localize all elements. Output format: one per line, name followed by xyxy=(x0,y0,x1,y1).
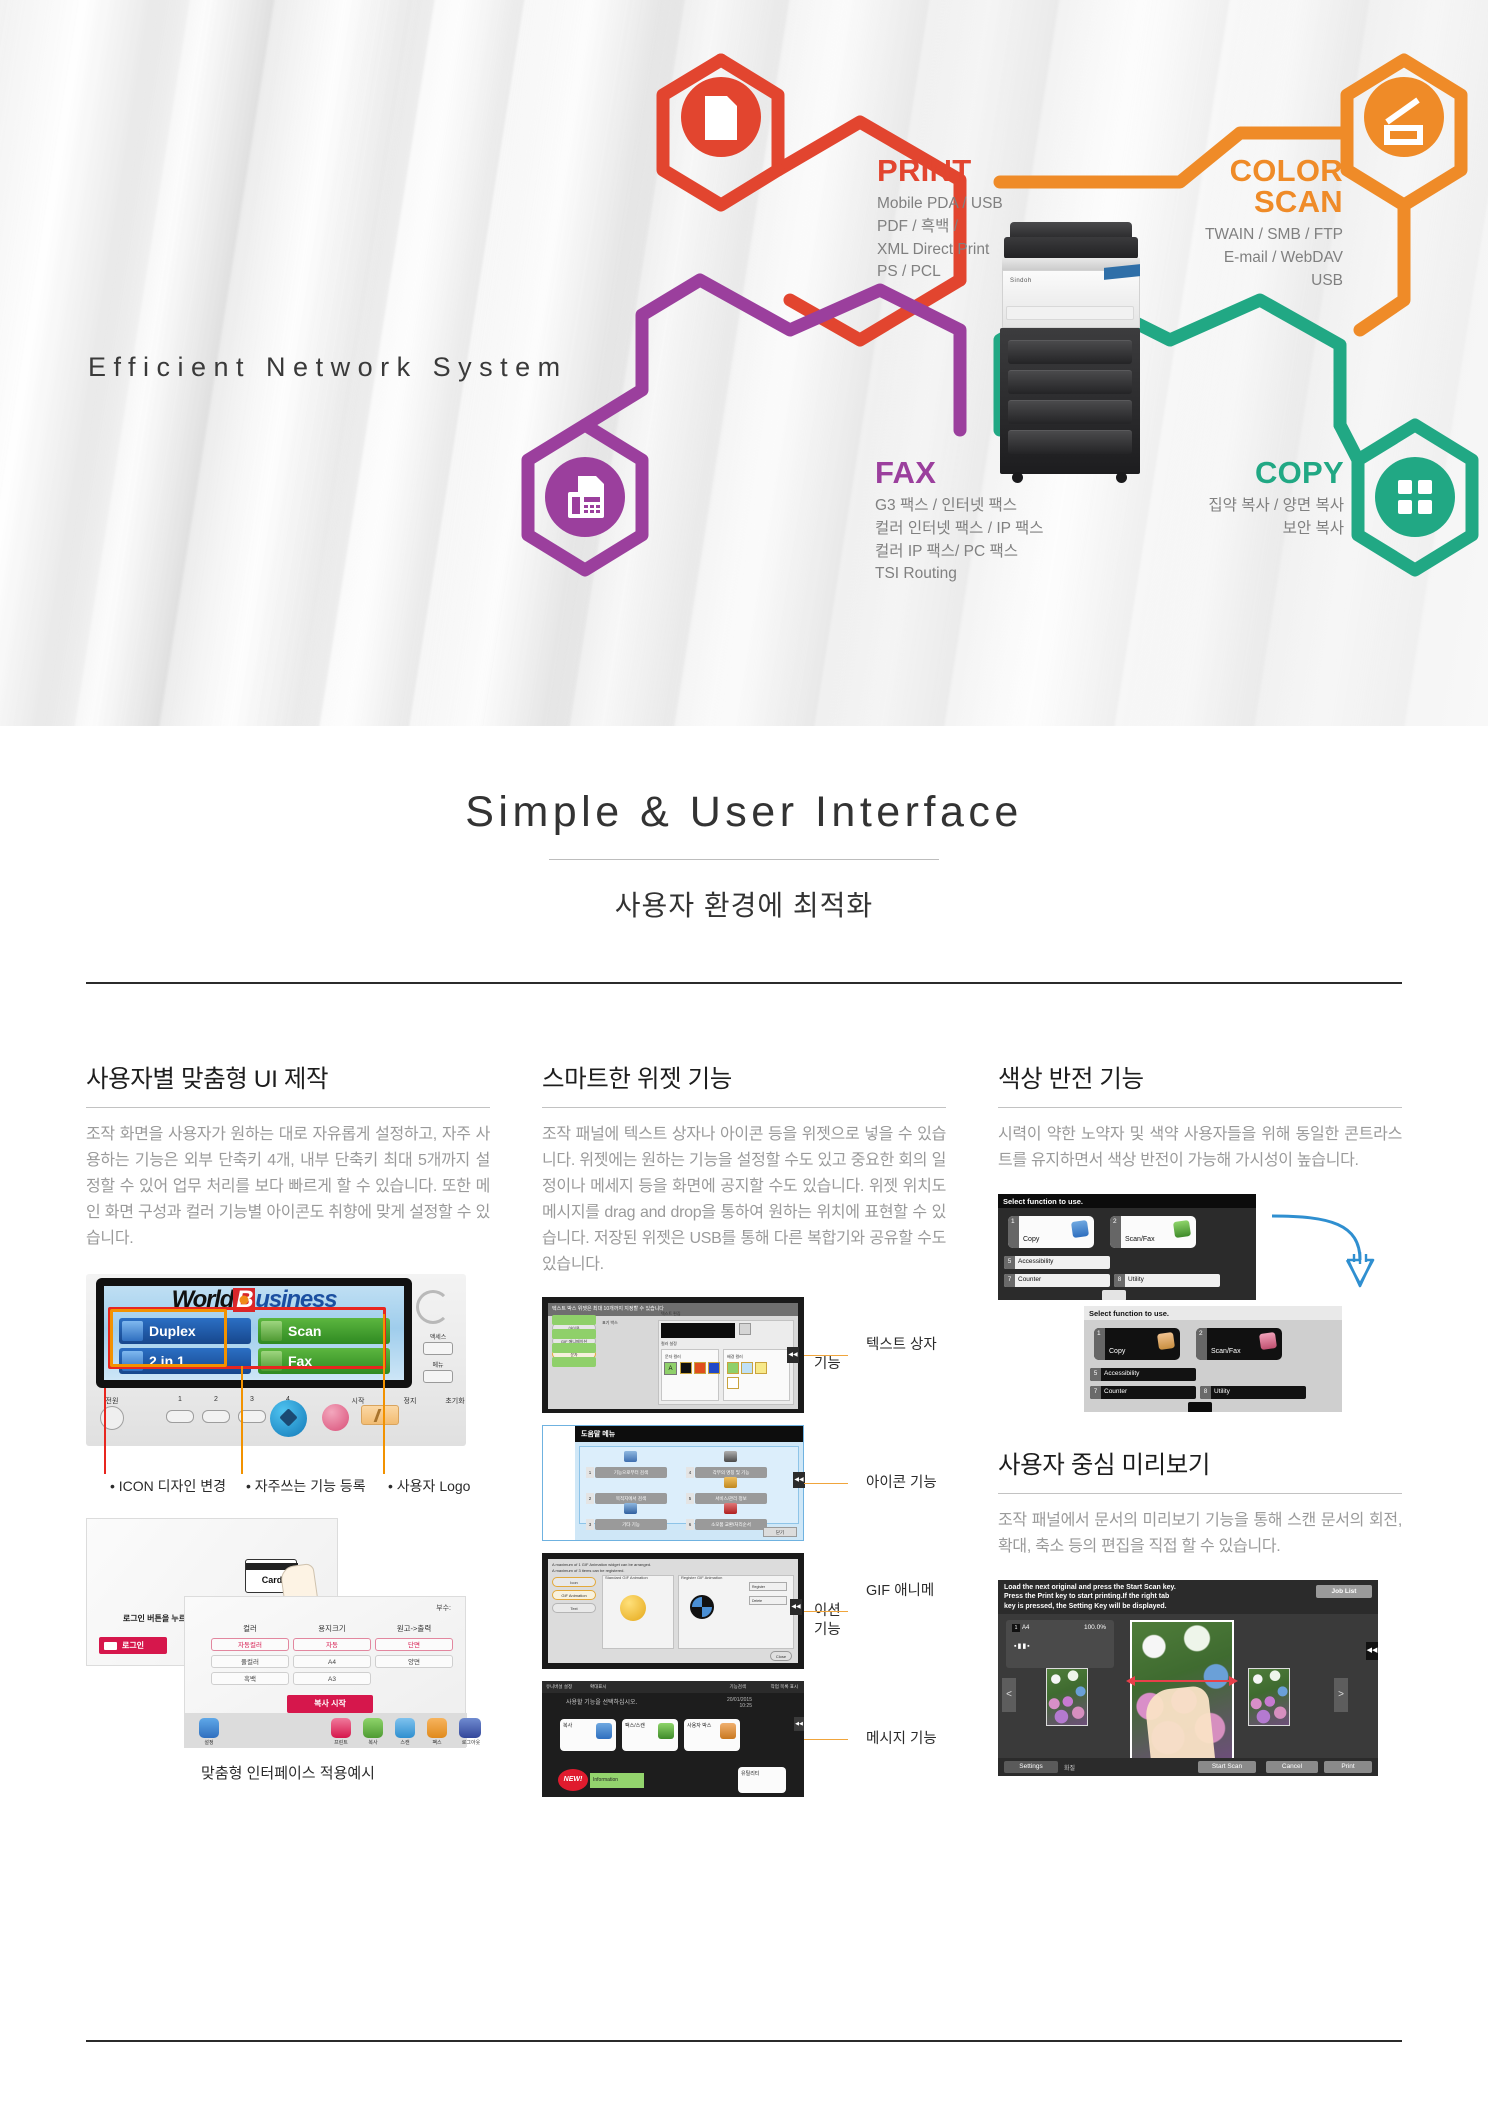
new-badge: NEW! xyxy=(558,1769,588,1791)
content-top-divider xyxy=(86,982,1402,984)
collapse-arrow-icon-3[interactable]: ◀◀ xyxy=(790,1599,802,1615)
callout-user-logo: • 사용자 Logo xyxy=(388,1476,470,1496)
control-panel-callouts: • ICON 디자인 변경 • 자주쓰는 기능 등록 • 사용자 Logo xyxy=(86,1446,466,1500)
gif-pane-title-standard: Standard GIF Animation xyxy=(605,1575,648,1580)
widget-row-gif: A maximum of 1 GIF Animation widget can … xyxy=(542,1553,946,1669)
preview-info-box: 1A4 100.0% ▪▮▮▪ xyxy=(1006,1620,1114,1668)
login-button[interactable]: 로그인 xyxy=(99,1637,167,1654)
reset-button[interactable] xyxy=(361,1405,399,1425)
help-num-2: 2 xyxy=(586,1493,594,1504)
msg-tile-userbox[interactable]: 사용자 박스 xyxy=(684,1719,740,1751)
collapse-arrow-icon-5[interactable]: ◀◀ xyxy=(1366,1642,1378,1660)
inv-normal-tile-scanfax[interactable]: 2 Scan/Fax xyxy=(1110,1216,1196,1248)
hard-key-row: 전원 1 2 3 4 시작 정지 초기화 xyxy=(86,1392,466,1442)
msg-tile-copy[interactable]: 복사 xyxy=(560,1719,616,1751)
gif-tab-icon[interactable]: Icon xyxy=(552,1577,596,1587)
hero-node-color-scan: COLOR SCAN TWAIN / SMB / FTP E-mail / We… xyxy=(1125,155,1343,292)
setting-group-duplex: 원고->출력 단면 양면 xyxy=(375,1623,453,1672)
leader-line-gif xyxy=(804,1611,848,1612)
help-item-6[interactable]: 소모품 교환/처리순서 xyxy=(695,1519,767,1530)
leader-line-textbox xyxy=(804,1355,848,1356)
shortcut-key-2[interactable] xyxy=(202,1410,230,1423)
msg-tile-copy-label: 복사 xyxy=(563,1723,572,1729)
msg-subtitle: 사용할 기능을 선택하십시오. xyxy=(566,1697,637,1706)
title-divider xyxy=(549,859,939,860)
preview-footer-sub: 화질 xyxy=(1064,1763,1075,1772)
column-widgets: 스마트한 위젯 기능 조작 패널에 텍스트 상자나 아이콘 등을 위젯으로 넣을… xyxy=(542,1060,946,1809)
control-panel-figure: WorldBusiness Duplex 2 in 1 Scan Fax 액세스 xyxy=(86,1274,466,1500)
preview-mini-glyphs: ▪▮▮▪ xyxy=(1014,1642,1031,1650)
fax-title: FAX xyxy=(875,457,1044,488)
logout-icon[interactable] xyxy=(459,1718,481,1738)
gif-close-button[interactable]: Close xyxy=(770,1651,792,1661)
inv-inverted-header: Select function to use. xyxy=(1084,1306,1342,1320)
side-label-menu: 메뉴 xyxy=(416,1360,460,1369)
access-button[interactable] xyxy=(423,1342,453,1355)
fax-desc: G3 팩스 / 인터넷 팩스 컬러 인터넷 팩스 / IP 팩스 컬러 IP 팩… xyxy=(875,495,1044,586)
leader-line-message xyxy=(804,1739,848,1740)
hero-banner: Efficient Network System xyxy=(0,0,1488,726)
inversion-shot-inverted: Select function to use. 1 Copy 2 Scan/Fa… xyxy=(1084,1306,1342,1412)
help-icon-5 xyxy=(724,1477,737,1488)
inv-inverted-key-icon[interactable] xyxy=(1188,1402,1212,1412)
inv-normal-copy-label: Copy xyxy=(1023,1236,1039,1243)
gif-select-register[interactable]: Register xyxy=(749,1582,787,1591)
footer-label-copy: 복사 xyxy=(360,1739,386,1746)
inv-inverted-counter[interactable]: 7Counter xyxy=(1090,1386,1196,1399)
inv-inverted-scanfax-num: 2 xyxy=(1196,1328,1207,1360)
copy-count-label: 부수: xyxy=(436,1603,451,1613)
inv-normal-utility[interactable]: 8Utility xyxy=(1114,1274,1220,1287)
preview-nav-prev[interactable]: < xyxy=(1002,1678,1016,1712)
preview-zoom-level: 100.0% xyxy=(1084,1624,1106,1631)
faxscan-tile-icon xyxy=(658,1723,674,1739)
preview-thumb-next[interactable] xyxy=(1248,1668,1290,1726)
preview-screen-shot: Load the next original and press the Sta… xyxy=(998,1580,1378,1776)
inv-normal-accessibility[interactable]: 5Accessibility xyxy=(1004,1256,1110,1269)
help-num-6: 6 xyxy=(686,1519,694,1530)
help-icon-3 xyxy=(624,1503,637,1514)
shortcut-key-1[interactable] xyxy=(166,1410,194,1423)
footer-label-fax: 팩스 xyxy=(424,1739,450,1746)
label-text-edit: 텍스트 편집 xyxy=(661,1311,681,1317)
copy-tile-icon-inverted xyxy=(1157,1332,1175,1350)
help-num-1: 1 xyxy=(586,1467,594,1478)
gif-tab-text[interactable]: Text xyxy=(552,1603,596,1613)
page-title-block: Simple & User Interface 사용자 환경에 최적화 xyxy=(0,726,1488,924)
document-icon xyxy=(705,96,737,140)
group-color-title: 컬러 xyxy=(211,1623,289,1634)
col3-divider xyxy=(998,1107,1402,1108)
scan-icon-footer[interactable] xyxy=(395,1718,415,1738)
key-label-reset: 초기화 xyxy=(436,1396,474,1406)
key-label-2: 2 xyxy=(202,1396,230,1403)
preview-nav-next[interactable]: > xyxy=(1334,1678,1348,1712)
group-duplex-title: 원고->출력 xyxy=(375,1623,453,1634)
callout-icon-design: • ICON 디자인 변경 xyxy=(110,1476,226,1496)
settings-icon[interactable] xyxy=(199,1718,219,1738)
help-icon-1 xyxy=(624,1451,637,1462)
textbox-widget-shot: 텍스트 박스 위젯은 최대 10개까지 지정할 수 있습니다 아이콘 GIF 애… xyxy=(542,1297,804,1413)
option-simplex[interactable]: 단면 xyxy=(375,1638,453,1651)
preview-start-scan-button[interactable]: Start Scan xyxy=(1198,1761,1256,1773)
scanfax-tile-icon-normal xyxy=(1173,1220,1191,1238)
hero-node-copy: COPY 집약 복사 / 양면 복사 보안 복사 xyxy=(1130,457,1344,541)
fax-icon-footer[interactable] xyxy=(427,1718,447,1738)
footer-label-scan: 스캔 xyxy=(392,1739,418,1746)
option-auto-color[interactable]: 자동컬러 xyxy=(211,1638,289,1651)
inv-normal-scanfax-num: 2 xyxy=(1110,1216,1121,1248)
col1-figure-caption: 맞춤형 인터페이스 적용예시 xyxy=(86,1762,490,1783)
preview-paper: A4 xyxy=(1022,1625,1029,1631)
col2-heading: 스마트한 위젯 기능 xyxy=(542,1060,946,1095)
key-label-power: 전원 xyxy=(98,1396,126,1406)
col1-heading: 사용자별 맞춤형 UI 제작 xyxy=(86,1060,490,1095)
highlight-box-orange xyxy=(110,1309,227,1367)
stop-button[interactable] xyxy=(322,1404,349,1431)
copy-tile-icon-normal xyxy=(1071,1220,1089,1238)
inv-inverted-utility[interactable]: 8Utility xyxy=(1200,1386,1306,1399)
inversion-shot-normal: Select function to use. 1 Copy 2 Scan/Fa… xyxy=(998,1194,1256,1300)
color-scan-title: COLOR SCAN xyxy=(1125,155,1343,217)
key-label-1: 1 xyxy=(166,1396,194,1403)
collapse-arrow-icon-4[interactable]: ◀◀ xyxy=(794,1717,804,1731)
widget-row-textbox: 텍스트 박스 위젯은 최대 10개까지 지정할 수 있습니다 아이콘 GIF 애… xyxy=(542,1297,946,1413)
panel-bezel: WorldBusiness Duplex 2 in 1 Scan Fax xyxy=(96,1278,412,1388)
copy-settings-shot: 부수: 컬러 자동컬러 풀컬러 흑백 용지크기 자동 A4 A3 원고->출력 … xyxy=(184,1596,466,1748)
col3-body: 시력이 약한 노약자 및 색약 사용자들을 위해 동일한 콘트라스트를 유지하면… xyxy=(998,1122,1402,1174)
collapse-arrow-icon[interactable]: ◀◀ xyxy=(787,1347,799,1363)
label-bg-color: 배경 컬러 xyxy=(727,1354,743,1360)
inv-inverted-tile-copy[interactable]: 1 Copy xyxy=(1094,1328,1180,1360)
help-icon-4 xyxy=(724,1451,737,1462)
option-duplex[interactable]: 양면 xyxy=(375,1655,453,1668)
copy-desc: 집약 복사 / 양면 복사 보안 복사 xyxy=(1130,495,1344,541)
msg-tile-faxscan-label: 팩스/스캔 xyxy=(625,1723,645,1729)
inv-inverted-accessibility[interactable]: 5Accessibility xyxy=(1090,1368,1196,1381)
label-color-setting: 컬러 설정 xyxy=(661,1341,677,1347)
gif-pane-title-register: Register GIF Animation xyxy=(681,1575,722,1580)
msg-tile-faxscan[interactable]: 팩스/스캔 xyxy=(622,1719,678,1751)
inv-normal-header: Select function to use. xyxy=(998,1194,1256,1208)
help-close-button[interactable]: 닫기 xyxy=(763,1527,797,1537)
gif-tab-gif[interactable]: GIF Animation xyxy=(552,1590,596,1600)
key-label-stop: 정지 xyxy=(396,1396,424,1406)
inv-inverted-copy-label: Copy xyxy=(1109,1348,1125,1355)
msg-job-list[interactable]: 작업 목록 표시 xyxy=(771,1684,798,1690)
bg-swatch-yellow[interactable] xyxy=(755,1362,767,1374)
keyboard-icon[interactable] xyxy=(739,1323,751,1335)
inv-normal-tile-copy[interactable]: 1 Copy xyxy=(1008,1216,1094,1248)
label-font-color: 문자 컬러 xyxy=(665,1354,681,1360)
start-button[interactable] xyxy=(270,1400,307,1437)
userbox-tile-icon xyxy=(720,1723,736,1739)
copy-title: COPY xyxy=(1130,457,1344,488)
preview-divider xyxy=(998,1493,1402,1494)
label-display-box: 표기 박스 xyxy=(602,1320,618,1326)
column-custom-ui: 사용자별 맞춤형 UI 제작 조작 화면을 사용자가 원하는 대로 자유롭게 설… xyxy=(86,1060,490,1809)
page-title: Simple & User Interface xyxy=(0,788,1488,837)
inv-inverted-tile-scanfax[interactable]: 2 Scan/Fax xyxy=(1196,1328,1282,1360)
footer-label-print: 프린트 xyxy=(328,1739,354,1746)
preview-print-button[interactable]: Print xyxy=(1324,1761,1372,1773)
msg-function-search[interactable]: 기능검색 xyxy=(729,1684,746,1690)
preview-section: 사용자 중심 미리보기 조작 패널에서 문서의 미리보기 기능을 통해 스캔 문… xyxy=(998,1446,1402,1776)
hero-node-print: PRINT Mobile PDA / USB PDF / 흑백 / XML Di… xyxy=(877,155,1003,284)
setting-group-paper: 용지크기 자동 A4 A3 xyxy=(293,1623,371,1689)
copy-icon[interactable] xyxy=(363,1718,383,1738)
msg-datetime: 20/01/2015 10:25 xyxy=(727,1697,752,1709)
callout-icon-function: 아이콘 기능 xyxy=(866,1475,937,1491)
char-sample-swatch[interactable]: A xyxy=(664,1362,677,1375)
touch-sensor-icon xyxy=(416,1290,450,1324)
preview-page-info: 1A4 xyxy=(1012,1624,1029,1632)
footer-label-settings: 설정 xyxy=(196,1739,222,1746)
preview-page-num: 1 xyxy=(1012,1624,1020,1632)
gif-widget-shot: A maximum of 1 GIF Animation widget can … xyxy=(542,1553,804,1669)
text-input-preview[interactable] xyxy=(661,1323,735,1338)
preview-body: 조작 패널에서 문서의 미리보기 기능을 통해 스캔 문서의 회전, 확대, 축… xyxy=(998,1508,1402,1560)
bg-swatch-green[interactable] xyxy=(727,1362,739,1374)
help-num-3: 3 xyxy=(586,1519,594,1530)
inversion-arrow-icon xyxy=(1268,1202,1388,1306)
option-mono[interactable]: 흑백 xyxy=(211,1672,289,1685)
help-num-5: 5 xyxy=(686,1493,694,1504)
page-subtitle: 사용자 환경에 최적화 xyxy=(0,884,1488,924)
hexagon-network-diagram xyxy=(0,0,1488,726)
inversion-figure: Select function to use. 1 Copy 2 Scan/Fa… xyxy=(998,1194,1402,1412)
option-paper-a4[interactable]: A4 xyxy=(293,1655,371,1668)
preview-job-list-button[interactable]: Job List xyxy=(1316,1585,1372,1598)
icon-widget-shot: 도움말 메뉴 1 기능으로부터 검색 4 각부의 명칭 및 기능 2 목적지에서… xyxy=(542,1425,804,1541)
help-item-3[interactable]: 기타 기능 xyxy=(595,1519,667,1530)
gif-note: A maximum of 1 GIF Animation widget can … xyxy=(552,1562,651,1573)
inv-normal-key-icon[interactable] xyxy=(1102,1290,1126,1300)
help-icon-6 xyxy=(724,1503,737,1514)
option-paper-a3[interactable]: A3 xyxy=(293,1672,371,1685)
help-num-4: 4 xyxy=(686,1467,694,1478)
widget-figures: 텍스트 박스 위젯은 최대 10개까지 지정할 수 있습니다 아이콘 GIF 애… xyxy=(542,1297,946,1797)
swatch-orange[interactable] xyxy=(694,1362,706,1374)
content-columns: 사용자별 맞춤형 UI 제작 조작 화면을 사용자가 원하는 대로 자유롭게 설… xyxy=(86,1060,1402,1809)
msg-enlarge-display[interactable]: 확대표시 xyxy=(590,1684,607,1690)
inv-normal-copy-num: 1 xyxy=(1008,1216,1019,1248)
col2-divider xyxy=(542,1107,946,1108)
leader-line-icon xyxy=(804,1483,848,1484)
print-icon[interactable] xyxy=(331,1718,351,1738)
col2-body: 조작 패널에 텍스트 상자나 아이콘 등을 위젯으로 넣을 수 있습니다. 위젯… xyxy=(542,1122,946,1277)
textbox-bar-text: 텍스트 박스 위젯은 최대 10개까지 지정할 수 있습니다 xyxy=(552,1305,664,1312)
option-paper-auto[interactable]: 자동 xyxy=(293,1638,371,1651)
preview-settings-button[interactable]: Settings xyxy=(1004,1761,1058,1773)
message-widget-shot: 유니버설 설정 확대표시 기능검색 작업 목록 표시 사용할 기능을 선택하십시… xyxy=(542,1681,804,1797)
option-full-color[interactable]: 풀컬러 xyxy=(211,1655,289,1668)
menu-button[interactable] xyxy=(423,1370,453,1383)
bg-swatch-lightblue[interactable] xyxy=(741,1362,753,1374)
help-icon-2 xyxy=(624,1477,637,1488)
copy-start-button[interactable]: 복사 시작 xyxy=(287,1695,373,1713)
inv-inverted-scanfax-label: Scan/Fax xyxy=(1211,1348,1241,1355)
gif-select-delete[interactable]: Delete xyxy=(749,1596,787,1605)
swatch-black[interactable] xyxy=(680,1362,692,1374)
col1-body: 조작 화면을 사용자가 원하는 대로 자유롭게 설정하고, 자주 사용하는 기능… xyxy=(86,1122,490,1252)
login-copy-figure: Card 로그인 버튼을 누르거나, ID 카드를 인증하여 주십시요. 로그인… xyxy=(86,1518,466,1748)
preview-thumb-prev[interactable] xyxy=(1046,1668,1088,1726)
scanfax-tile-icon-inverted xyxy=(1259,1332,1277,1350)
copy-shot-footer: 설정 프린트 복사 스캔 팩스 로그아웃 xyxy=(185,1713,467,1747)
color-scan-desc: TWAIN / SMB / FTP E-mail / WebDAV USB xyxy=(1125,224,1343,292)
swipe-arrow-icon xyxy=(1126,1676,1238,1686)
msg-universal-setting[interactable]: 유니버설 설정 xyxy=(546,1684,572,1690)
copy-tile-icon xyxy=(596,1723,612,1739)
content-bottom-divider xyxy=(86,2040,1402,2042)
inv-normal-scanfax-label: Scan/Fax xyxy=(1125,1236,1155,1243)
inv-normal-counter[interactable]: 7Counter xyxy=(1004,1274,1110,1287)
group-paper-title: 용지크기 xyxy=(293,1623,371,1634)
callout-frequent-functions: • 자주쓰는 기능 등록 xyxy=(246,1476,366,1496)
print-desc: Mobile PDA / USB PDF / 흑백 / XML Direct P… xyxy=(877,193,1003,284)
inv-inverted-copy-num: 1 xyxy=(1094,1328,1105,1360)
control-panel: WorldBusiness Duplex 2 in 1 Scan Fax 액세스 xyxy=(86,1274,466,1446)
preview-cancel-button[interactable]: Cancel xyxy=(1266,1761,1318,1773)
footer-label-logout: 로그아웃 xyxy=(457,1739,485,1746)
preview-heading: 사용자 중심 미리보기 xyxy=(998,1446,1402,1481)
msg-tile-userbox-label: 사용자 박스 xyxy=(687,1723,711,1729)
swatch-blue[interactable] xyxy=(708,1362,720,1374)
callout-message-function: 메시지 기능 xyxy=(866,1731,937,1747)
col3-heading: 색상 반전 기능 xyxy=(998,1060,1402,1095)
utility-tile-label: 유틸리티 xyxy=(741,1771,759,1777)
widget-row-message: 유니버설 설정 확대표시 기능검색 작업 목록 표시 사용할 기능을 선택하십시… xyxy=(542,1681,946,1797)
help-menu-title: 도움말 메뉴 xyxy=(575,1426,803,1442)
side-label-access: 액세스 xyxy=(416,1332,460,1341)
col1-divider xyxy=(86,1107,490,1108)
bg-swatch-white[interactable] xyxy=(727,1377,739,1389)
widget-row-icon: 도움말 메뉴 1 기능으로부터 검색 4 각부의 명칭 및 기능 2 목적지에서… xyxy=(542,1425,946,1541)
setting-group-color: 컬러 자동컬러 풀컬러 흑백 xyxy=(211,1623,289,1689)
utility-tile[interactable]: 유틸리티 xyxy=(738,1767,786,1793)
hero-node-fax: FAX G3 팩스 / 인터넷 팩스 컬러 인터넷 팩스 / IP 팩스 컬러 … xyxy=(875,457,1044,586)
information-banner[interactable]: Information xyxy=(590,1773,644,1788)
preview-footer: Settings 화질 Start Scan Cancel Print xyxy=(998,1758,1378,1776)
print-title: PRINT xyxy=(877,155,1003,186)
column-inversion-preview: 색상 반전 기능 시력이 약한 노약자 및 색약 사용자들을 위해 동일한 콘트… xyxy=(998,1060,1402,1809)
printer-brand: Sindoh xyxy=(1010,278,1032,284)
